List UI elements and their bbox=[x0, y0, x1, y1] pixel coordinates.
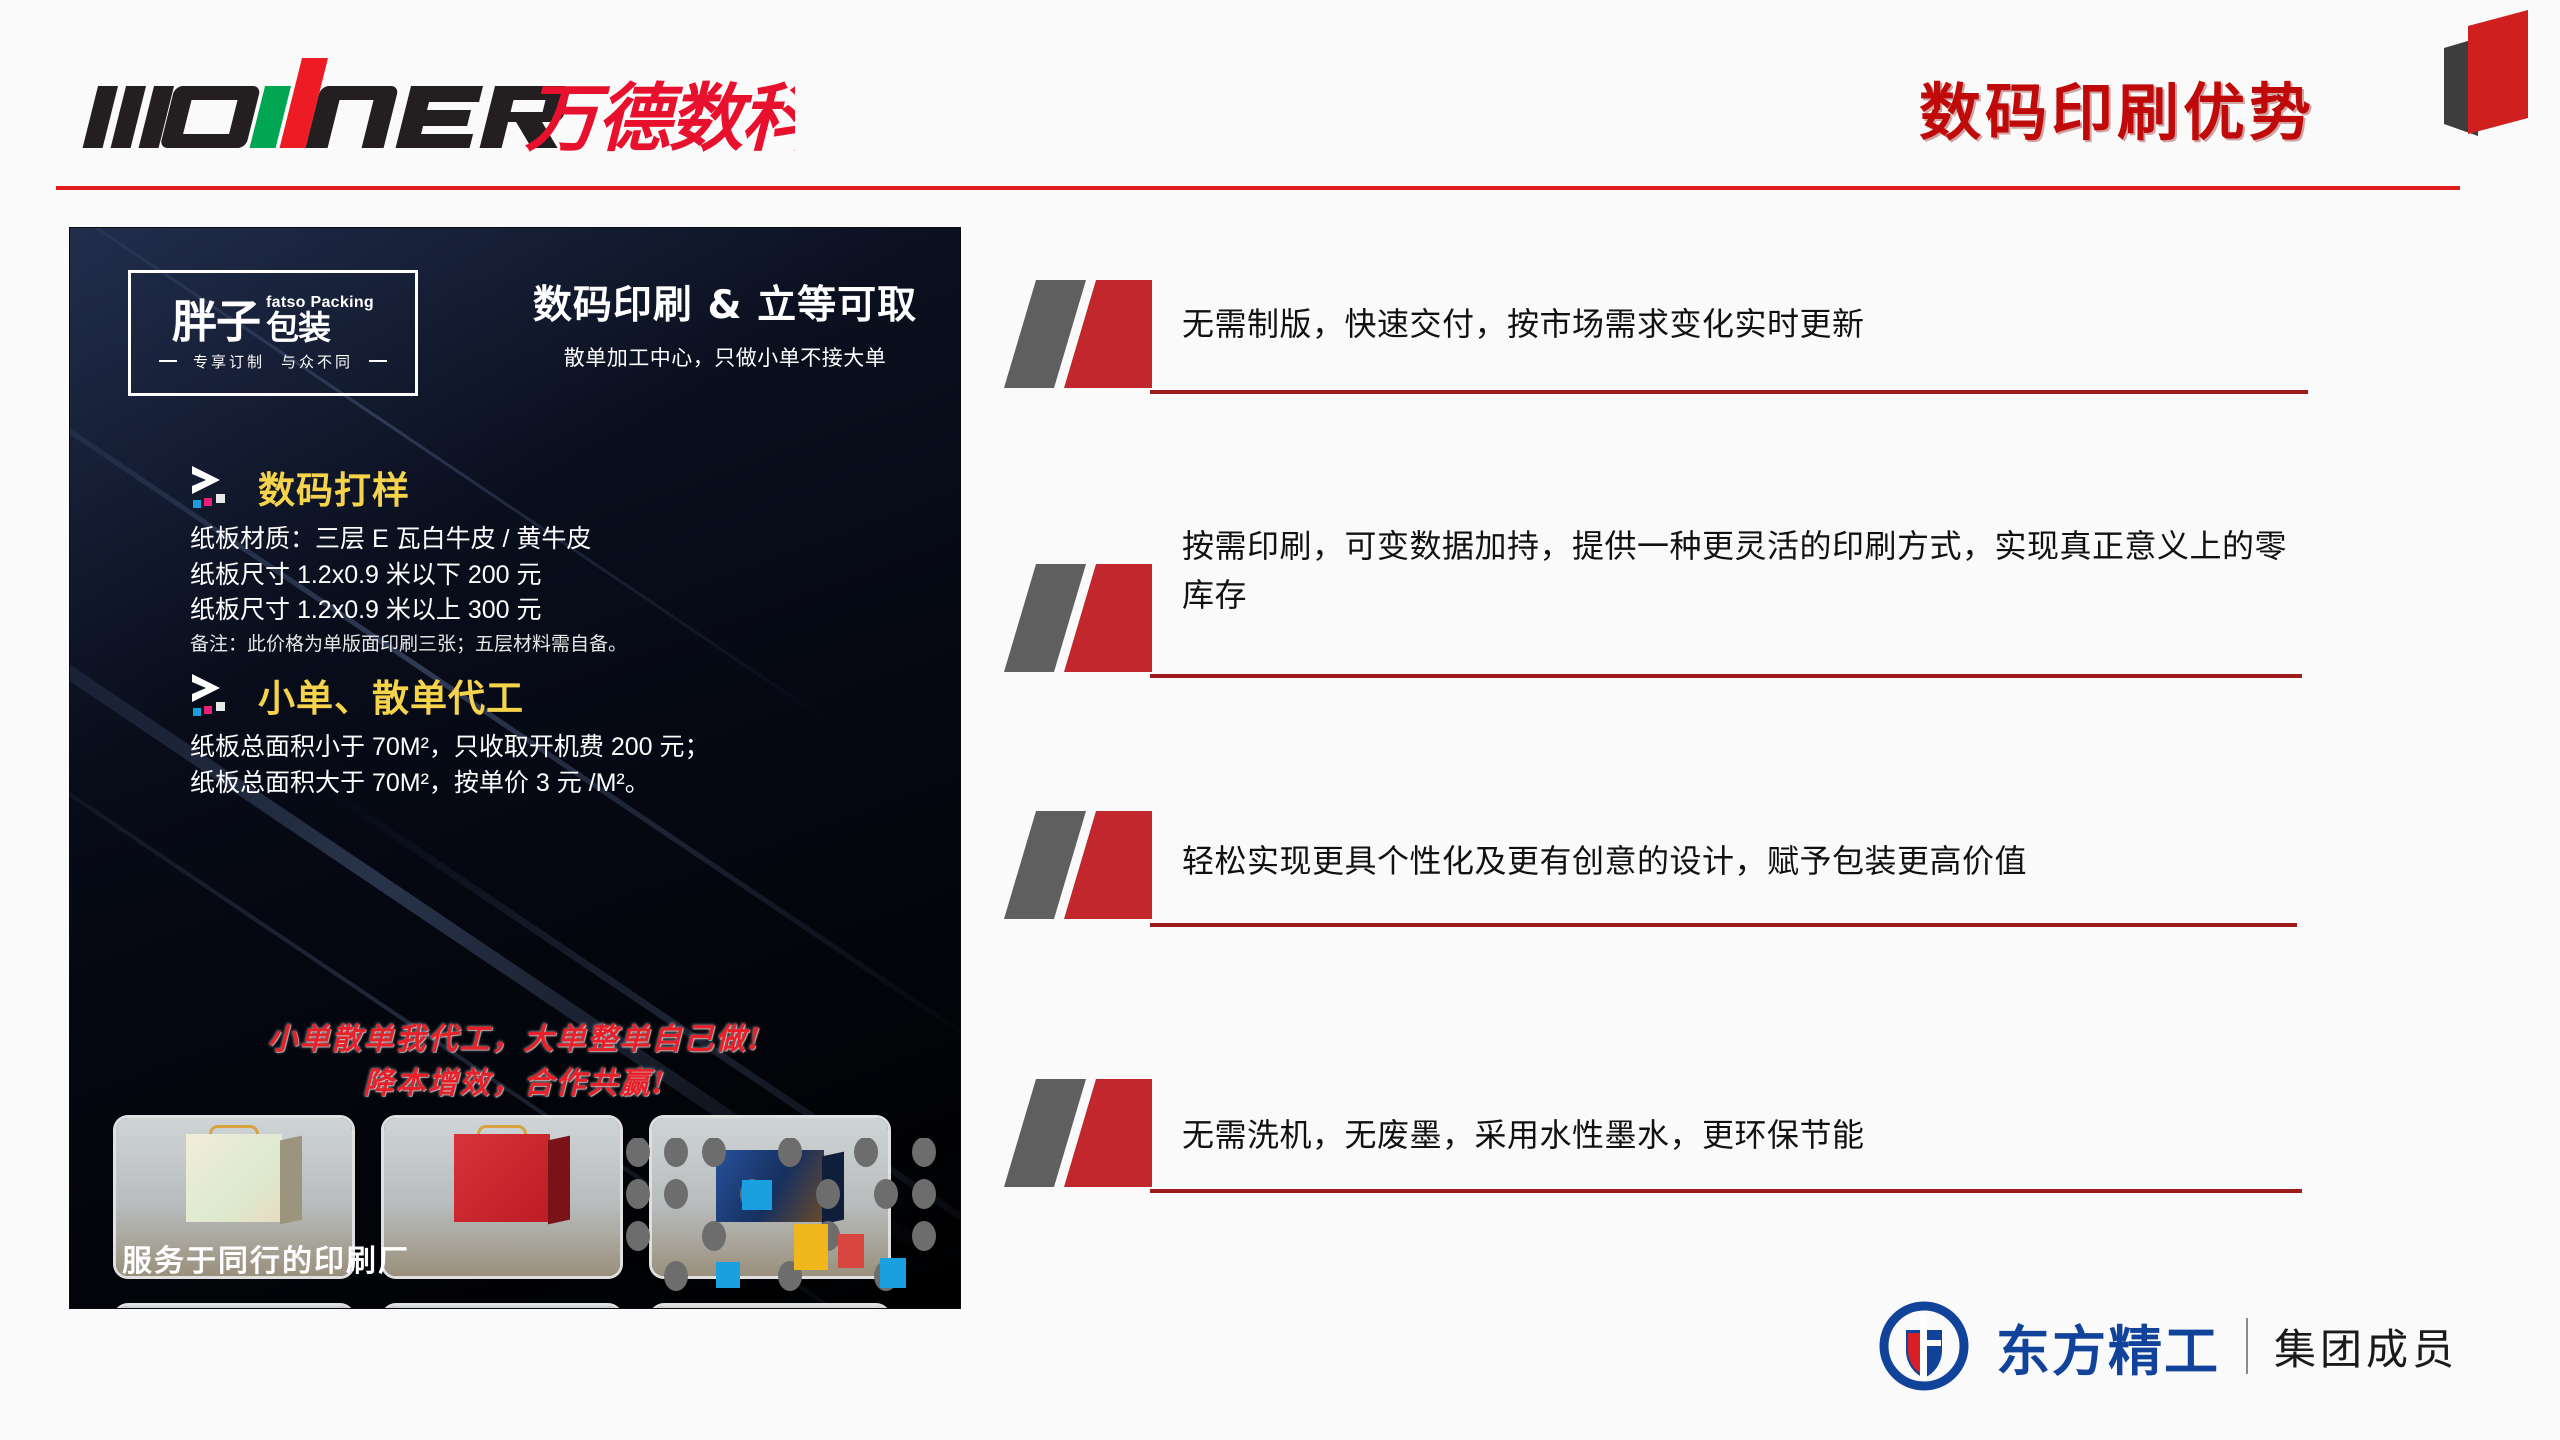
list-item: 轻松实现更具个性化及更有创意的设计，赋予包装更高价值 bbox=[1000, 807, 2420, 1053]
poster-slogan: 小单散单我代工，大单整单自己做! 降本增效，合作共赢! bbox=[70, 1018, 960, 1105]
list-item-text: 无需制版，快速交付，按市场需求变化实时更新 bbox=[1182, 300, 2412, 349]
list-item-text: 轻松实现更具个性化及更有创意的设计，赋予包装更高价值 bbox=[1182, 837, 2412, 886]
list-item-underline bbox=[1150, 390, 2308, 394]
double-slash-marker-icon bbox=[1000, 560, 1190, 678]
footer-member-label: 集团成员 bbox=[2274, 1316, 2458, 1377]
list-item-text: 无需洗机，无废墨，采用水性墨水，更环保节能 bbox=[1182, 1111, 2412, 1160]
poster-section-line: 纸板总面积大于 70M²，按单价 3 元 /M²。 bbox=[190, 766, 710, 802]
list-item-underline bbox=[1150, 1189, 2302, 1193]
badge-dash bbox=[159, 360, 177, 362]
poster-headline: 数码印刷 & 立等可取 bbox=[525, 274, 925, 330]
fatso-packing-badge: 胖子 fatso Packing 包装 专享订制 与众不同 bbox=[128, 270, 418, 396]
header-divider bbox=[56, 186, 2460, 190]
list-item: 按需印刷，可变数据加持，提供一种更灵活的印刷方式，实现真正意义上的零库存 bbox=[1000, 512, 2420, 807]
product-photo bbox=[652, 1306, 888, 1308]
product-photo bbox=[384, 1118, 620, 1276]
poster-section-proofing: 数码打样 纸板材质：三层 E 瓦白牛皮 / 黄牛皮 纸板尺寸 1.2x0.9 米… bbox=[190, 460, 627, 658]
footer-company-name: 东方精工 bbox=[1996, 1307, 2220, 1386]
chevron-arrow-icon bbox=[190, 672, 244, 718]
fatso-badge-tag-right: 与众不同 bbox=[281, 351, 353, 372]
poster-section-note: 备注：此价格为单版面印刷三张；五层材料需自备。 bbox=[190, 632, 627, 659]
footer-divider bbox=[2246, 1318, 2248, 1374]
poster-section-line: 纸板总面积小于 70M²，只收取开机费 200 元； bbox=[190, 730, 710, 766]
poster-footer-text: 服务于同行的印刷厂 bbox=[122, 1236, 410, 1280]
fatso-badge-cn-small: 包装 bbox=[266, 311, 330, 344]
list-item: 无需洗机，无废墨，采用水性墨水，更环保节能 bbox=[1000, 1053, 2420, 1293]
double-slash-marker-icon bbox=[1000, 276, 1190, 394]
chevron-arrow-icon bbox=[190, 464, 244, 510]
corner-decoration-icon bbox=[2422, 8, 2542, 146]
list-item-underline bbox=[1150, 923, 2297, 927]
poster-headline-block: 数码印刷 & 立等可取 散单加工中心，只做小单不接大单 bbox=[525, 274, 925, 372]
poster-slogan-line1: 小单散单我代工，大单整单自己做! bbox=[70, 1018, 960, 1062]
product-photo bbox=[384, 1306, 620, 1308]
dongfang-precision-mark-icon bbox=[1878, 1300, 1970, 1392]
poster-subline: 散单加工中心，只做小单不接大单 bbox=[525, 342, 925, 372]
product-photo bbox=[116, 1306, 352, 1308]
list-item-text: 按需印刷，可变数据加持，提供一种更灵活的印刷方式，实现真正意义上的零库存 bbox=[1182, 522, 2287, 619]
poster-section-title: 数码打样 bbox=[258, 460, 410, 514]
list-item: 无需制版，快速交付，按市场需求变化实时更新 bbox=[1000, 276, 2420, 512]
poster-slogan-line2: 降本增效，合作共赢! bbox=[70, 1062, 960, 1106]
poster-section-line: 纸板材质：三层 E 瓦白牛皮 / 黄牛皮 bbox=[190, 522, 627, 558]
slide-root: 万德数科 数码印刷优势 胖子 fatso Packing 包装 专享订制 bbox=[0, 0, 2560, 1440]
promo-poster: 胖子 fatso Packing 包装 专享订制 与众不同 数码印刷 & 立等可… bbox=[70, 228, 960, 1308]
double-slash-marker-icon bbox=[1000, 1075, 1190, 1193]
list-item-underline bbox=[1150, 674, 2302, 678]
page-title: 数码印刷优势 bbox=[1919, 62, 2315, 152]
advantages-list: 无需制版，快速交付，按市场需求变化实时更新 按需印刷，可变数据加持，提供一种更灵… bbox=[1000, 276, 2420, 1293]
svg-text:万德数科: 万德数科 bbox=[524, 76, 795, 156]
poster-section-title: 小单、散单代工 bbox=[258, 668, 524, 722]
badge-dash bbox=[369, 360, 387, 362]
double-slash-marker-icon bbox=[1000, 807, 1190, 925]
wonder-brand-logo: 万德数科 bbox=[55, 38, 795, 156]
fatso-badge-tag-left: 专享订制 bbox=[193, 351, 265, 372]
dot-pattern-decoration bbox=[624, 1138, 954, 1298]
poster-section-smallorder: 小单、散单代工 纸板总面积小于 70M²，只收取开机费 200 元； 纸板总面积… bbox=[190, 668, 710, 801]
poster-section-line: 纸板尺寸 1.2x0.9 米以下 200 元 bbox=[190, 558, 627, 594]
fatso-badge-cn-big: 胖子 bbox=[172, 301, 260, 344]
group-member-logo: 东方精工 集团成员 bbox=[1878, 1300, 2458, 1392]
poster-section-line: 纸板尺寸 1.2x0.9 米以上 300 元 bbox=[190, 593, 627, 629]
